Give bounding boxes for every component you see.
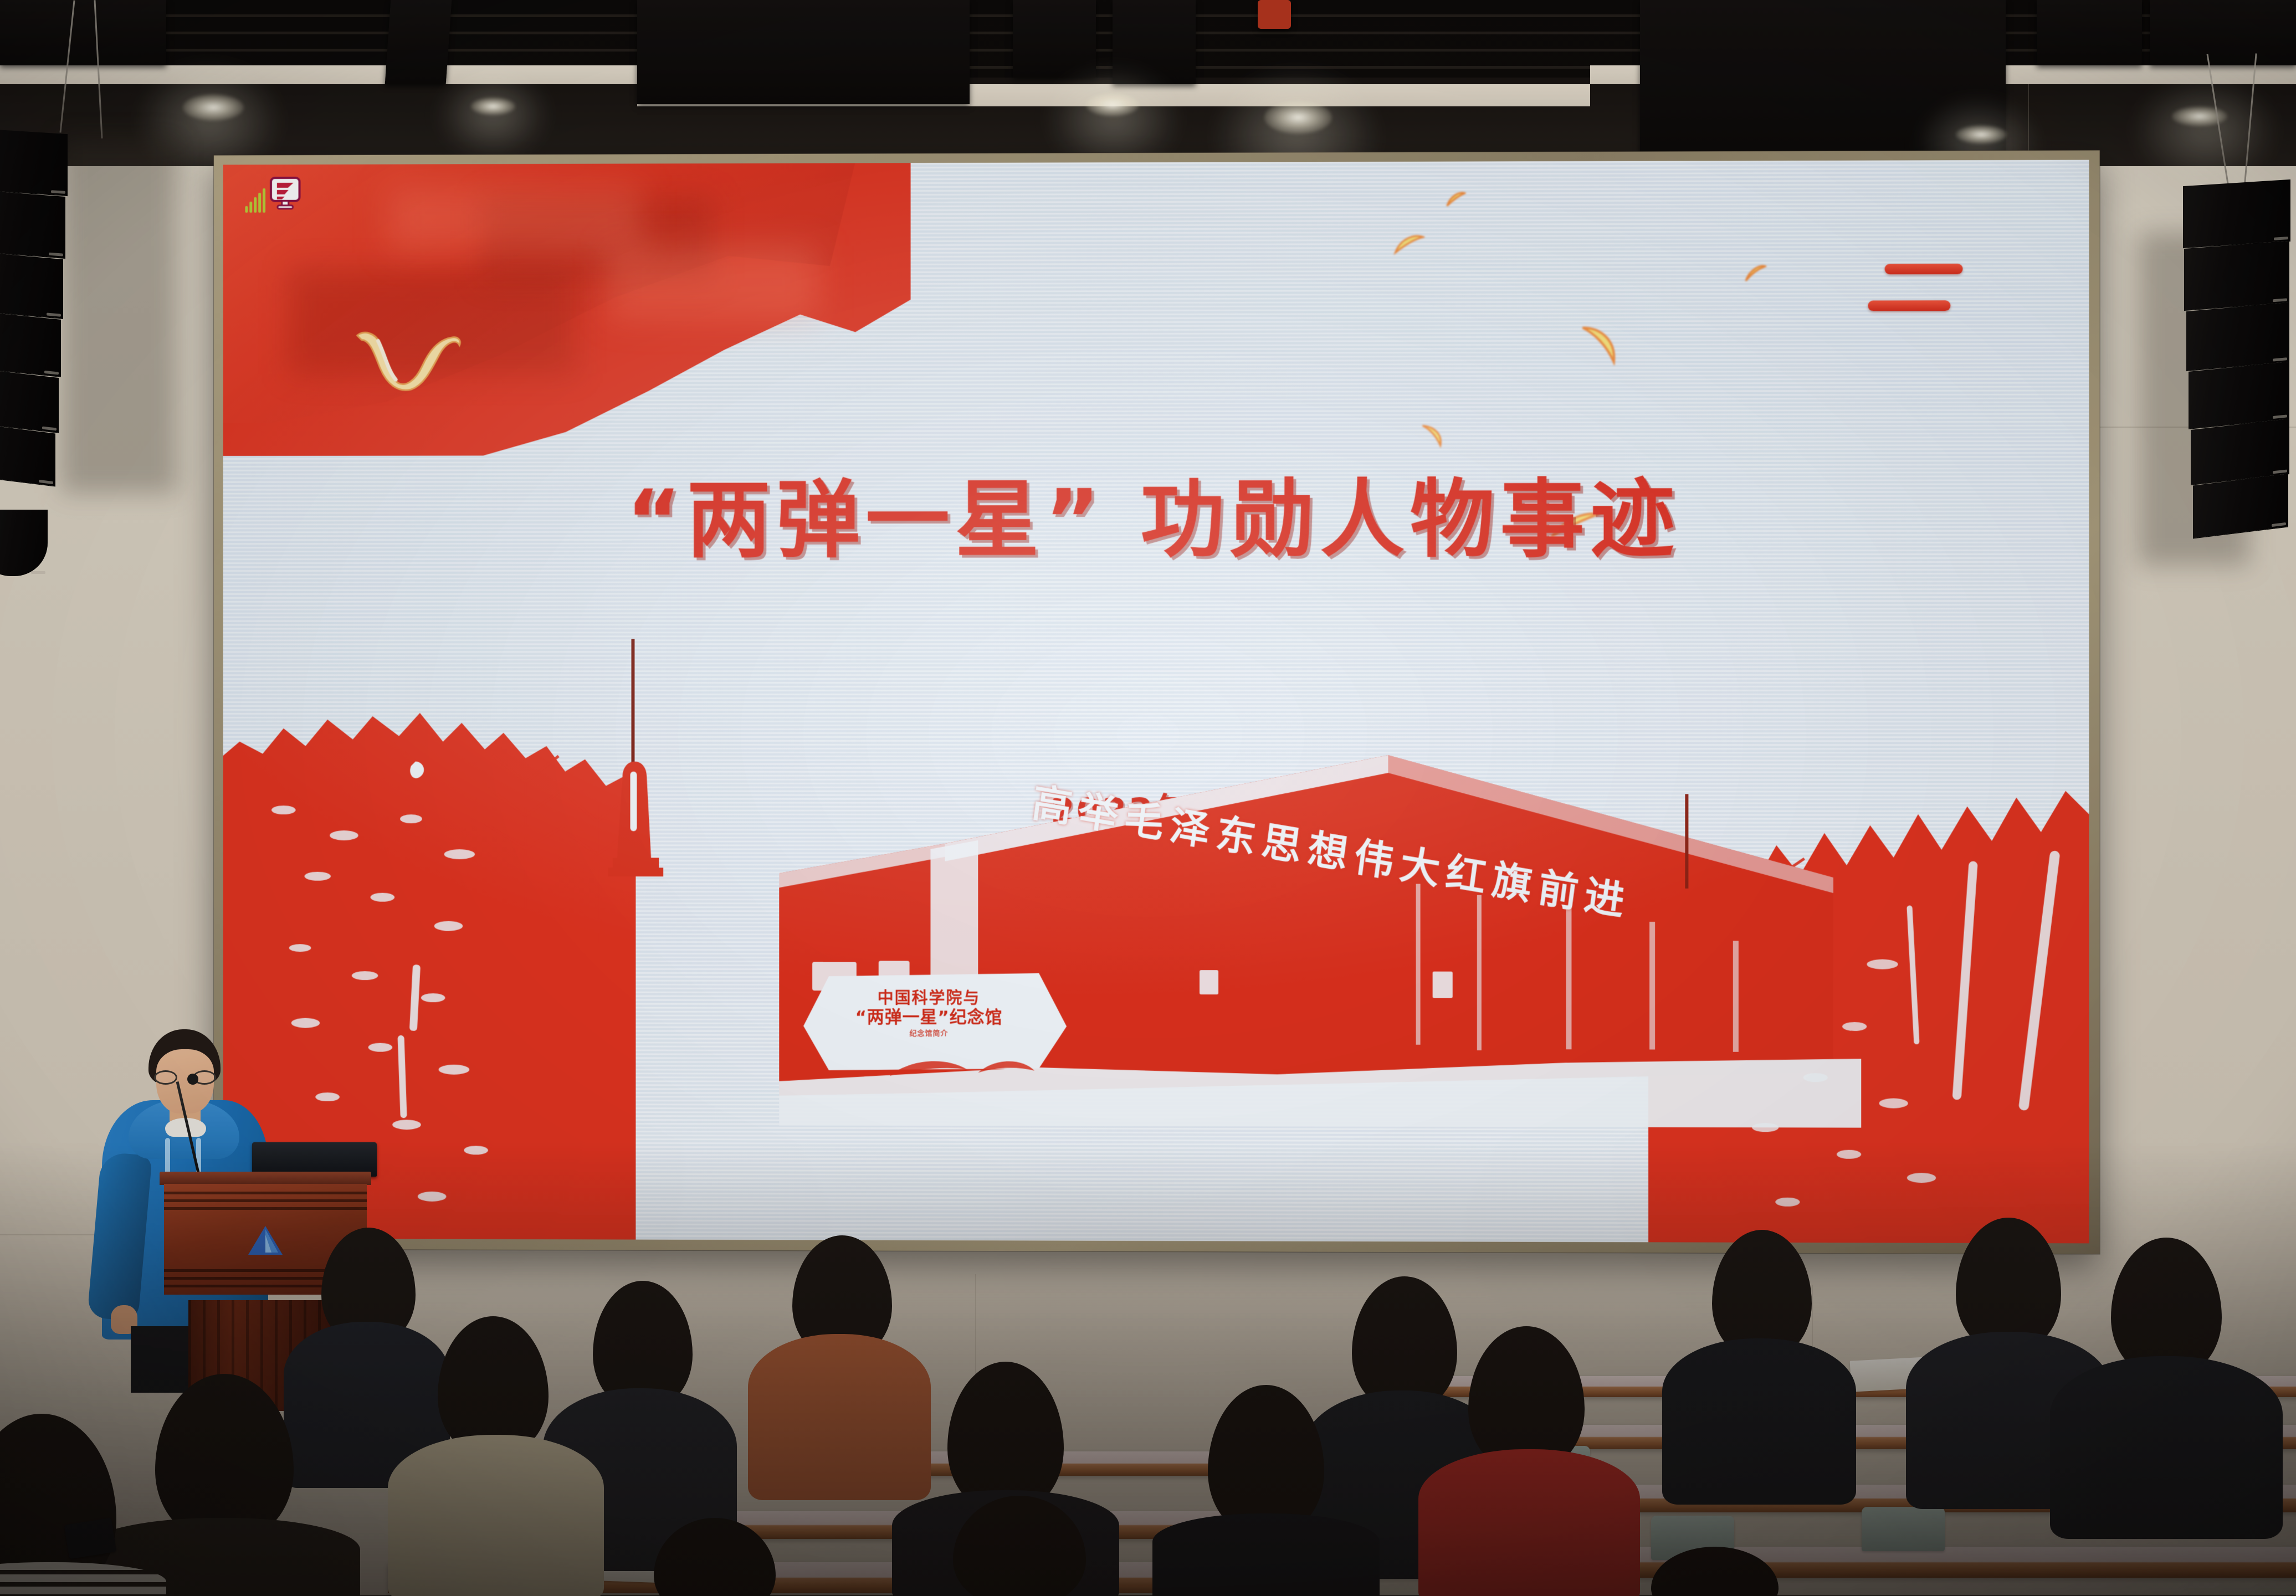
downlight (1956, 125, 2007, 144)
plaque-line-2: “两弹一星”纪念馆 (838, 1007, 1020, 1028)
audience-head (1468, 1326, 1585, 1470)
audience-head (155, 1374, 294, 1540)
slide-title: “两弹一星” 功勋人物事迹 (223, 477, 2089, 563)
ceiling-baffle (1013, 0, 1096, 78)
signal-bars-icon (245, 188, 265, 213)
plaque-line-3: 纪念馆简介 (838, 1029, 1020, 1038)
microphone-head (187, 1074, 198, 1085)
flag-fold-highlight (608, 246, 818, 318)
flag-fold-highlight (388, 186, 641, 253)
subwoofer-left (0, 510, 50, 576)
presentation-slide: “两弹一星” 功勋人物事迹 2023年4月 (223, 160, 2089, 1244)
glasses-icon (154, 1070, 216, 1085)
audience-torso (388, 1435, 604, 1596)
ceiling-baffle (385, 0, 452, 84)
ceiling-baffle (2150, 0, 2296, 65)
podium-top (160, 1172, 371, 1185)
speaker-shadow (61, 138, 177, 493)
audience-torso (1662, 1338, 1856, 1505)
audience-head (947, 1362, 1064, 1511)
audience-head (1208, 1385, 1324, 1535)
downlight (1264, 101, 1332, 134)
screen-cast-icon (270, 177, 301, 213)
wall-soffit-left (0, 65, 637, 84)
mobile-phone[interactable] (64, 1518, 117, 1559)
decor-dash-lower (1868, 300, 1950, 311)
line-array-speaker-left (0, 131, 71, 481)
petal-decor (1744, 264, 1766, 286)
monument-spire (601, 639, 672, 893)
audience-head (1956, 1218, 2061, 1351)
ceiling-fixture (1258, 0, 1291, 29)
chair[interactable] (1862, 1507, 1945, 1551)
museum-building: 高举毛泽东思想伟大红旗前进 中国科学院与 “两弹一星”纪念馆 纪念馆简介 (779, 738, 1861, 1128)
decor-dash-upper (1885, 264, 1963, 274)
audience-torso (748, 1334, 931, 1500)
lecture-hall-scene: “两弹一星” 功勋人物事迹 2023年4月 (0, 0, 2296, 1596)
projection-screen-frame: “两弹一星” 功勋人物事迹 2023年4月 (214, 150, 2100, 1254)
audience-torso (1152, 1513, 1380, 1596)
monument-plaque: 中国科学院与 “两弹一星”纪念馆 纪念馆简介 (838, 988, 1020, 1038)
slide-status-icons (245, 177, 300, 213)
hoodie-drawstring (165, 1138, 170, 1176)
downlight (183, 94, 244, 121)
audience-head (2111, 1238, 2222, 1376)
downlight (471, 97, 515, 115)
audience-head (1352, 1276, 1457, 1409)
petal-decor (1421, 422, 1445, 450)
audience-torso (2050, 1356, 2283, 1539)
ceiling-baffle (637, 0, 970, 104)
line-array-speaker-right (2223, 183, 2296, 533)
audience-head (438, 1316, 549, 1455)
downlight-glow (2133, 78, 2277, 183)
ceiling-baffle (2037, 0, 2142, 65)
audience-area (0, 1208, 2296, 1596)
petal-decor (1580, 322, 1619, 368)
plaque-line-1: 中国科学院与 (838, 988, 1020, 1008)
audience-torso (1418, 1449, 1640, 1596)
ceiling-baffle (0, 0, 166, 65)
gold-ribbon (354, 330, 464, 392)
petal-decor (1393, 234, 1424, 259)
petal-decor (1446, 192, 1466, 211)
downlight (1086, 93, 1139, 116)
